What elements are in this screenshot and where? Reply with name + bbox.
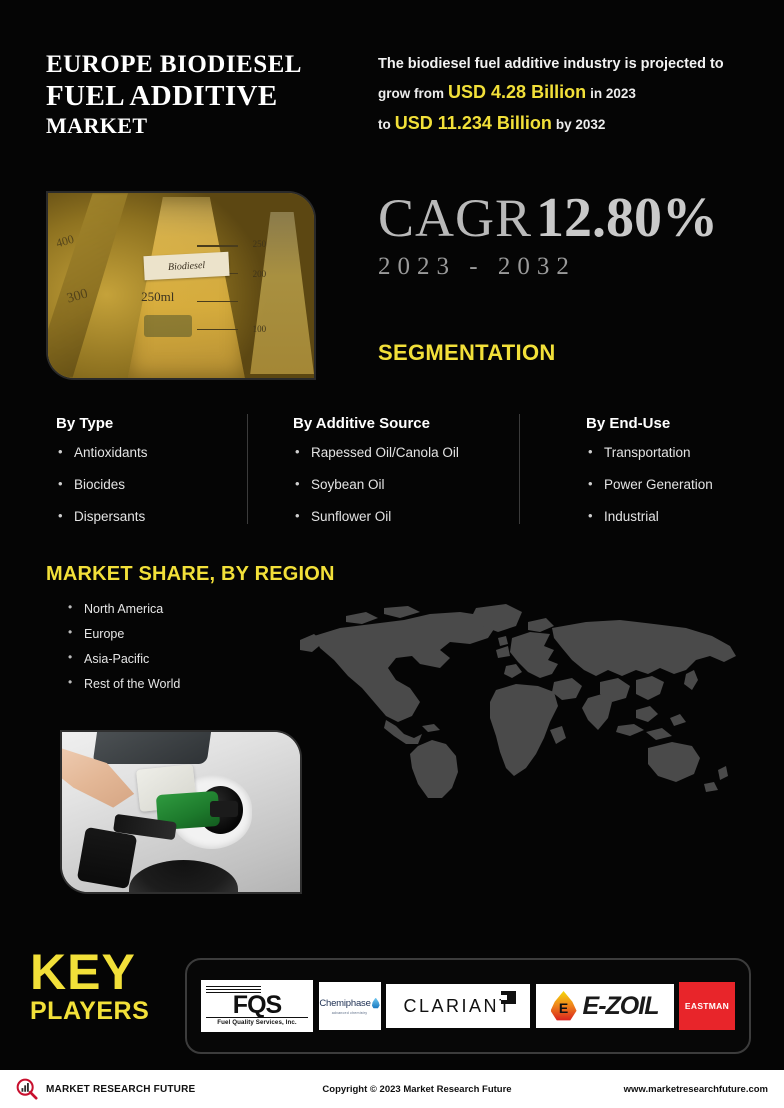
cagr-value: 12.80% — [536, 187, 718, 249]
pump-car-window — [93, 732, 212, 764]
summary-lead: The biodiesel fuel additive industry is … — [378, 56, 724, 72]
flask-tick-100: 100 — [253, 324, 267, 334]
page-title: EUROPE BIODIESEL FUEL ADDITIVE MARKET — [46, 50, 356, 140]
segmentation-heading: SEGMENTATION — [378, 340, 556, 366]
flask-scene: 400 300 250 200 100 Biodiesel 250ml — [48, 193, 314, 378]
summary-year-start: in 2023 — [590, 86, 636, 101]
list-item: North America — [64, 602, 180, 617]
summary-year-end: by 2032 — [556, 117, 606, 132]
list-item: Asia-Pacific — [64, 652, 180, 667]
list-item: Sunflower Oil — [293, 508, 533, 526]
water-drop-icon — [372, 998, 380, 1009]
list-item: Antioxidants — [56, 444, 251, 462]
clariant-mark-icon — [501, 991, 516, 1004]
region-list: North America Europe Asia-Pacific Rest o… — [64, 602, 180, 702]
footer-brand-name: MARKET RESEARCH FUTURE — [46, 1084, 195, 1095]
flask-volume-text: 250ml — [141, 289, 174, 305]
list-item: Europe — [64, 627, 180, 642]
logo-eastman: EASTMAN — [679, 982, 735, 1030]
flask-tick-250: 250 — [253, 239, 267, 249]
biodiesel-flasks-photo: 400 300 250 200 100 Biodiesel 250ml — [48, 193, 314, 378]
map-continents — [300, 604, 736, 798]
list-item: Transportation — [586, 444, 784, 462]
segment-heading: By End-Use — [586, 415, 784, 432]
footer-copyright: Copyright © 2023 Market Research Future — [316, 1084, 518, 1095]
key-players-heading: KEY PLAYERS — [30, 948, 180, 1026]
chemiphase-row: Chemiphase — [319, 998, 379, 1009]
market-summary: The biodiesel fuel additive industry is … — [378, 52, 768, 139]
list-item: Soybean Oil — [293, 476, 533, 494]
fqs-wordmark: FQS — [233, 994, 281, 1017]
flask-mark-400: 400 — [54, 231, 75, 250]
footer-brand: MARKET RESEARCH FUTURE — [16, 1078, 316, 1100]
list-item: Dispersants — [56, 508, 251, 526]
fuel-pump-nozzle-photo — [62, 732, 300, 892]
market-research-future-logo-icon — [16, 1078, 38, 1100]
logo-fqs: FQS Fuel Quality Services, Inc. — [201, 980, 313, 1032]
list-item: Industrial — [586, 508, 784, 526]
infographic-canvas: EUROPE BIODIESEL FUEL ADDITIVE MARKET Th… — [0, 0, 784, 1108]
list-item: Biocides — [56, 476, 251, 494]
title-line-2: FUEL ADDITIVE — [46, 80, 356, 114]
title-line-1: EUROPE BIODIESEL — [46, 50, 356, 80]
flame-drop-icon — [551, 991, 577, 1021]
flask-tick-200: 200 — [253, 269, 267, 279]
segment-heading: By Type — [56, 415, 251, 432]
summary-value-start: USD 4.28 Billion — [448, 82, 586, 102]
logo-ezoil: E-ZOIL — [536, 984, 674, 1028]
summary-to-label: to — [378, 117, 391, 132]
cagr-label: CAGR — [378, 188, 532, 248]
logo-clariant: CLARIANT — [386, 984, 530, 1028]
market-share-heading: MARKET SHARE, BY REGION — [46, 563, 335, 586]
key-players-line-2: PLAYERS — [30, 996, 180, 1026]
page-footer: MARKET RESEARCH FUTURE Copyright © 2023 … — [0, 1070, 784, 1108]
fqs-tagline: Fuel Quality Services, Inc. — [206, 1017, 308, 1026]
world-map — [300, 598, 778, 798]
pump-hose — [77, 827, 138, 890]
segment-heading: By Additive Source — [293, 415, 533, 432]
flask-dark-patch — [144, 315, 192, 337]
footer-website[interactable]: www.marketresearchfuture.com — [518, 1084, 768, 1095]
segmentation-column-by-end-use: By End-Use Transportation Power Generati… — [586, 415, 784, 541]
magnifier-chart-icon — [16, 1078, 38, 1100]
pump-nozzle-neck — [210, 801, 239, 817]
key-players-line-1: KEY — [30, 948, 180, 996]
list-item: Rapessed Oil/Canola Oil — [293, 444, 533, 462]
segmentation-column-by-additive-source: By Additive Source Rapessed Oil/Canola O… — [293, 415, 533, 541]
clariant-wordmark: CLARIANT — [403, 996, 512, 1017]
segment-list: Antioxidants Biocides Dispersants — [56, 444, 251, 527]
segmentation-columns: By Type Antioxidants Biocides Dispersant… — [46, 415, 746, 535]
segment-list: Rapessed Oil/Canola Oil Soybean Oil Sunf… — [293, 444, 533, 527]
list-item: Power Generation — [586, 476, 784, 494]
summary-grow-from: grow from — [378, 86, 444, 101]
list-item: Rest of the World — [64, 677, 180, 692]
logo-chemiphase: Chemiphase advanced chemistry — [319, 982, 381, 1030]
cagr-block: CAGR 12.80% — [378, 186, 778, 250]
key-players-logo-panel: FQS Fuel Quality Services, Inc. Chemipha… — [185, 958, 751, 1054]
flask-left-shape — [48, 193, 133, 378]
summary-value-end: USD 11.234 Billion — [395, 113, 552, 133]
eastman-wordmark: EASTMAN — [685, 1001, 729, 1011]
chemiphase-tagline: advanced chemistry — [332, 1011, 368, 1015]
fqs-bars-icon — [206, 986, 308, 995]
segmentation-column-by-type: By Type Antioxidants Biocides Dispersant… — [56, 415, 251, 541]
ezoil-wordmark: E-ZOIL — [583, 992, 659, 1021]
chemiphase-wordmark: Chemiphase — [319, 998, 370, 1009]
world-map-svg — [300, 598, 778, 798]
cagr-period: 2023 - 2032 — [378, 253, 576, 281]
segment-list: Transportation Power Generation Industri… — [586, 444, 784, 527]
flask-label-tape: Biodiesel — [143, 252, 229, 280]
title-line-3: MARKET — [46, 113, 356, 139]
